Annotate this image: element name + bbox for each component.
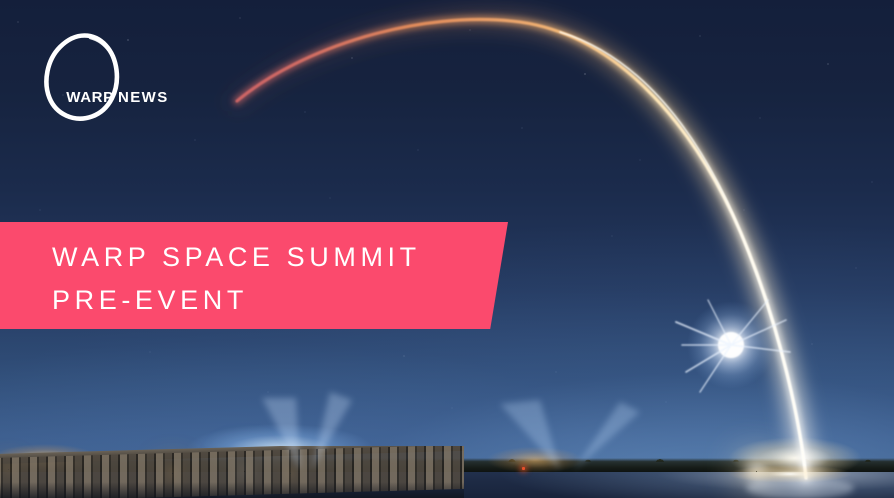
- logo-word-warp: WARP: [56, 90, 124, 105]
- warp-rounded-triangle-icon: [40, 30, 124, 122]
- light-shafts: [262, 392, 640, 470]
- water-reflection: [746, 477, 854, 498]
- warp-news-logo[interactable]: WARP NEWS: [40, 30, 190, 122]
- promo-banner-image: WARP SPACE SUMMIT PRE-EVENT WARP NEWS: [0, 0, 894, 498]
- logo-word-news: NEWS: [118, 90, 169, 105]
- headline-text: WARP SPACE SUMMIT PRE-EVENT: [52, 236, 472, 322]
